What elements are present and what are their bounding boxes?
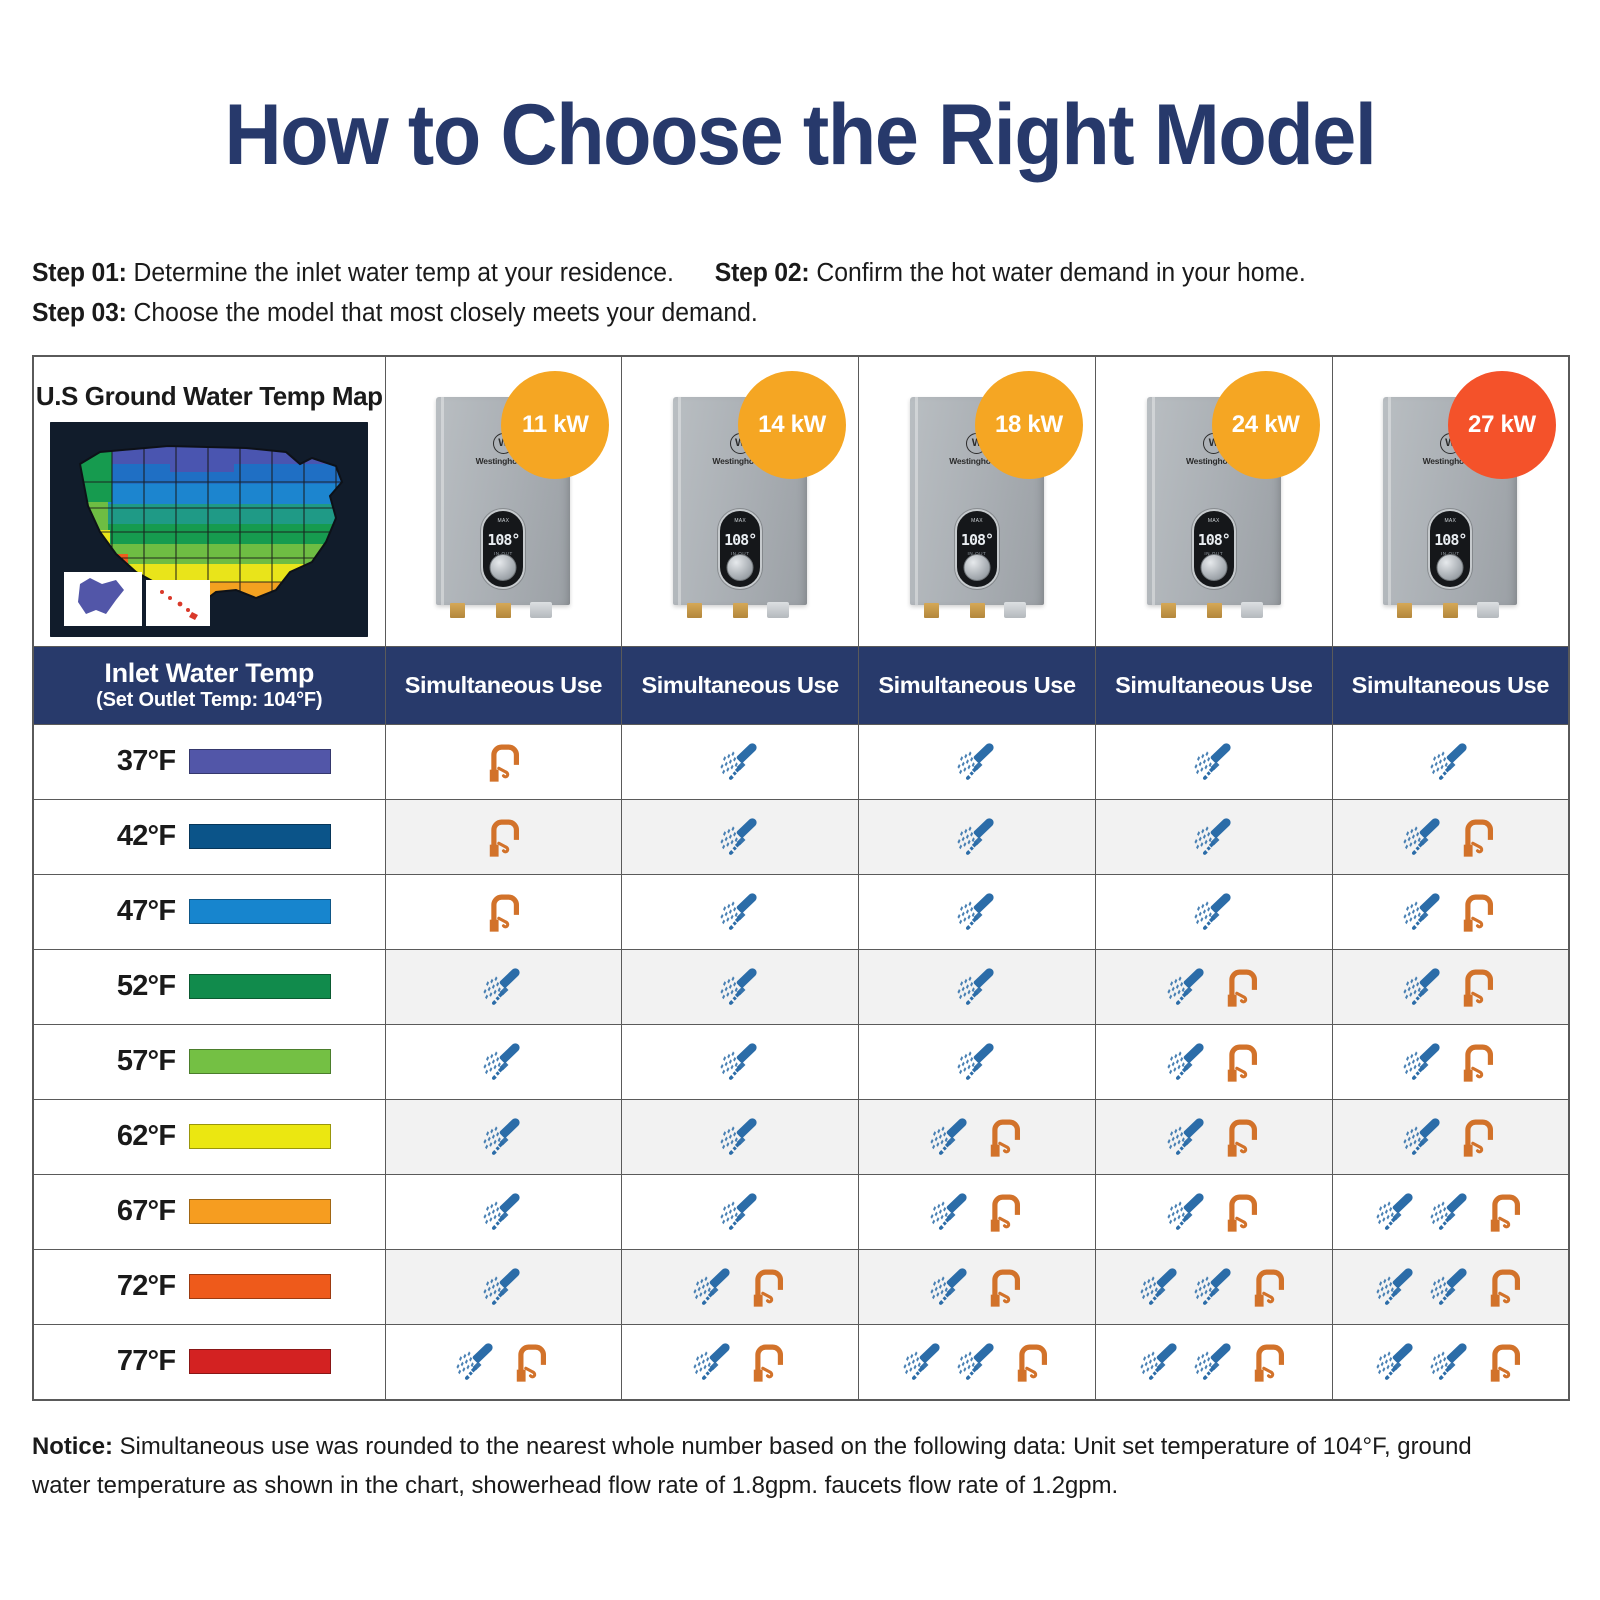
display-top-readout: MAX [483, 518, 523, 524]
showerhead-icon [1400, 963, 1446, 1011]
showerhead-icon [1164, 963, 1210, 1011]
usage-cell-r2-c2 [859, 874, 1096, 949]
showerhead-icon [480, 1188, 526, 1236]
water-ports [1383, 602, 1517, 618]
display-top-readout: MAX [720, 518, 760, 524]
display-temperature: 108° [957, 531, 997, 549]
usage-cell-r7-c1 [622, 1249, 859, 1324]
showerhead-icon [1373, 1263, 1419, 1311]
usage-cell-r3-c1 [622, 949, 859, 1024]
showerhead-icon [1164, 1113, 1210, 1161]
faucet-icon [744, 1263, 790, 1311]
showerhead-icon [1427, 1188, 1473, 1236]
temp-color-swatch [189, 1049, 331, 1074]
faucet-icon [1008, 1338, 1054, 1386]
showerhead-icon [927, 1263, 973, 1311]
showerhead-icon [480, 963, 526, 1011]
faucet-icon [1454, 888, 1500, 936]
step-03-label: Step 03: [32, 299, 127, 327]
step-02-label: Step 02: [715, 259, 810, 287]
temp-value: 47°F [87, 895, 175, 928]
table-row: 42°F [33, 799, 1569, 874]
step-03-text: Choose the model that most closely meets… [134, 299, 758, 327]
cable-gland [1004, 602, 1026, 618]
map-title: U.S Ground Water Temp Map [34, 365, 385, 422]
showerhead-icon [1400, 813, 1446, 861]
table-row: 47°F [33, 874, 1569, 949]
outlet-port [970, 603, 985, 618]
sim-use-header-1: Simultaneous Use [622, 646, 859, 724]
table-row: 37°F [33, 724, 1569, 799]
display-temperature: 108° [1194, 531, 1234, 549]
usage-cell-r5-c4 [1332, 1099, 1569, 1174]
model-selection-table: U.S Ground Water Temp Map [32, 355, 1570, 1401]
control-knob[interactable] [1200, 554, 1227, 581]
showerhead-icon [1191, 1263, 1237, 1311]
sim-use-header-2: Simultaneous Use [859, 646, 1096, 724]
display-temperature: 108° [483, 531, 523, 549]
temp-color-swatch [189, 974, 331, 999]
usage-cell-r6-c3 [1095, 1174, 1332, 1249]
steps-line-1: Step 01: Determine the inlet water temp … [32, 254, 1522, 294]
temp-value: 67°F [87, 1195, 175, 1228]
showerhead-icon [717, 1113, 763, 1161]
usage-cell-r5-c3 [1095, 1099, 1332, 1174]
notice-label: Notice: [32, 1433, 113, 1460]
showerhead-icon [1400, 1038, 1446, 1086]
power-badge-3: 24 kW [1212, 371, 1320, 479]
usage-cell-r2-c3 [1095, 874, 1332, 949]
showerhead-icon [717, 1188, 763, 1236]
showerhead-icon [717, 963, 763, 1011]
showerhead-icon [927, 1113, 973, 1161]
faucet-icon [1218, 1113, 1264, 1161]
showerhead-icon [1400, 888, 1446, 936]
usage-cell-r4-c4 [1332, 1024, 1569, 1099]
usage-cell-r1-c4 [1332, 799, 1569, 874]
temp-value: 57°F [87, 1045, 175, 1078]
usage-cell-r1-c3 [1095, 799, 1332, 874]
usage-cell-r8-c2 [859, 1324, 1096, 1400]
faucet-icon [1218, 1188, 1264, 1236]
temp-color-swatch [189, 824, 331, 849]
showerhead-icon [1191, 1338, 1237, 1386]
temp-value: 72°F [87, 1270, 175, 1303]
usage-cell-r4-c1 [622, 1024, 859, 1099]
usage-cell-r5-c1 [622, 1099, 859, 1174]
power-badge-2: 18 kW [975, 371, 1083, 479]
cable-gland [767, 602, 789, 618]
usage-cell-r5-c2 [859, 1099, 1096, 1174]
showerhead-icon [1427, 1338, 1473, 1386]
usage-cell-r1-c2 [859, 799, 1096, 874]
table-row: 52°F [33, 949, 1569, 1024]
power-badge-0: 11 kW [501, 371, 609, 479]
temp-value: 77°F [87, 1345, 175, 1378]
showerhead-icon [1164, 1188, 1210, 1236]
control-knob[interactable] [963, 554, 990, 581]
set-outlet-temp-note: (Set Outlet Temp: 104°F) [34, 689, 385, 712]
showerhead-icon [1164, 1038, 1210, 1086]
showerhead-icon [717, 888, 763, 936]
showerhead-icon [690, 1338, 736, 1386]
table-header-row: Inlet Water Temp (Set Outlet Temp: 104°F… [33, 646, 1569, 724]
faucet-icon [1218, 1038, 1264, 1086]
usage-cell-r0-c1 [622, 724, 859, 799]
showerhead-icon [453, 1338, 499, 1386]
temp-color-swatch [189, 899, 331, 924]
temp-cell-7: 72°F [33, 1249, 385, 1324]
sim-use-header-0: Simultaneous Use [385, 646, 622, 724]
faucet-icon [1481, 1263, 1527, 1311]
display-temperature: 108° [720, 531, 760, 549]
usage-cell-r3-c2 [859, 949, 1096, 1024]
water-ports [910, 602, 1044, 618]
usage-cell-r0-c0 [385, 724, 622, 799]
control-display: MAX 108° IN OUT [481, 509, 525, 589]
table-row: 57°F [33, 1024, 1569, 1099]
usage-cell-r6-c1 [622, 1174, 859, 1249]
display-temperature: 108° [1430, 531, 1470, 549]
temp-cell-8: 77°F [33, 1324, 385, 1400]
showerhead-icon [480, 1113, 526, 1161]
usage-cell-r1-c0 [385, 799, 622, 874]
unit-cell-4: Westinghouse MAX 108° IN OUT 27 kW [1332, 356, 1569, 646]
usage-cell-r8-c3 [1095, 1324, 1332, 1400]
temp-cell-1: 42°F [33, 799, 385, 874]
unit-cell-1: Westinghouse MAX 108° IN OUT 14 kW [622, 356, 859, 646]
display-top-readout: MAX [1194, 518, 1234, 524]
usage-cell-r0-c2 [859, 724, 1096, 799]
table-row: 72°F [33, 1249, 1569, 1324]
unit-cell-3: Westinghouse MAX 108° IN OUT 24 kW [1095, 356, 1332, 646]
inlet-port [1397, 603, 1412, 618]
cable-gland [530, 602, 552, 618]
faucet-icon [1454, 1038, 1500, 1086]
faucet-icon [981, 1263, 1027, 1311]
usage-cell-r4-c3 [1095, 1024, 1332, 1099]
temp-color-swatch [189, 1274, 331, 1299]
control-knob[interactable] [727, 554, 754, 581]
inlet-water-temp-header: Inlet Water Temp (Set Outlet Temp: 104°F… [33, 646, 385, 724]
temp-cell-2: 47°F [33, 874, 385, 949]
unit-cell-2: Westinghouse MAX 108° IN OUT 18 kW [859, 356, 1096, 646]
showerhead-icon [1373, 1188, 1419, 1236]
outlet-port [496, 603, 511, 618]
usage-cell-r2-c1 [622, 874, 859, 949]
faucet-icon [507, 1338, 553, 1386]
faucet-icon [480, 738, 526, 786]
usage-cell-r7-c3 [1095, 1249, 1332, 1324]
power-badge-4: 27 kW [1448, 371, 1556, 479]
faucet-icon [981, 1113, 1027, 1161]
table-row: 62°F [33, 1099, 1569, 1174]
temp-cell-0: 37°F [33, 724, 385, 799]
showerhead-icon [480, 1263, 526, 1311]
map-cell: U.S Ground Water Temp Map [33, 356, 385, 646]
usage-cell-r8-c0 [385, 1324, 622, 1400]
sim-use-header-4: Simultaneous Use [1332, 646, 1569, 724]
usage-cell-r0-c4 [1332, 724, 1569, 799]
step-01-label: Step 01: [32, 259, 127, 287]
faucet-icon [1454, 813, 1500, 861]
steps-line-2: Step 03: Choose the model that most clos… [32, 294, 1522, 334]
infographic-page: How to Choose the Right Model Step 01: D… [0, 0, 1600, 1600]
usage-cell-r5-c0 [385, 1099, 622, 1174]
us-map-image [50, 422, 368, 637]
step-01-text: Determine the inlet water temp at your r… [134, 259, 674, 287]
notice-text: Simultaneous use was rounded to the near… [32, 1433, 1472, 1500]
faucet-icon [1218, 963, 1264, 1011]
step-02-text: Confirm the hot water demand in your hom… [816, 259, 1305, 287]
cable-gland [1241, 602, 1263, 618]
faucet-icon [1454, 1113, 1500, 1161]
outlet-port [1443, 603, 1458, 618]
usage-cell-r4-c2 [859, 1024, 1096, 1099]
control-display: MAX 108° IN OUT [1192, 509, 1236, 589]
water-ports [673, 602, 807, 618]
map-graphic [50, 422, 368, 637]
control-display: MAX 108° IN OUT [1428, 509, 1472, 589]
inlet-port [924, 603, 939, 618]
inlet-water-temp-title: Inlet Water Temp [34, 658, 385, 688]
notice-block: Notice: Simultaneous use was rounded to … [32, 1427, 1530, 1506]
temp-value: 62°F [87, 1120, 175, 1153]
faucet-icon [744, 1338, 790, 1386]
temp-color-swatch [189, 1349, 331, 1374]
showerhead-icon [954, 813, 1000, 861]
showerhead-icon [954, 963, 1000, 1011]
faucet-icon [1481, 1338, 1527, 1386]
usage-cell-r6-c0 [385, 1174, 622, 1249]
usage-cell-r0-c3 [1095, 724, 1332, 799]
usage-cell-r6-c4 [1332, 1174, 1569, 1249]
sim-use-header-3: Simultaneous Use [1095, 646, 1332, 724]
temp-value: 42°F [87, 820, 175, 853]
faucet-icon [480, 813, 526, 861]
outlet-port [733, 603, 748, 618]
faucet-icon [480, 888, 526, 936]
control-display: MAX 108° IN OUT [955, 509, 999, 589]
showerhead-icon [690, 1263, 736, 1311]
temp-cell-3: 52°F [33, 949, 385, 1024]
usage-cell-r2-c4 [1332, 874, 1569, 949]
showerhead-icon [954, 888, 1000, 936]
temp-value: 52°F [87, 970, 175, 1003]
temp-cell-6: 67°F [33, 1174, 385, 1249]
control-display: MAX 108° IN OUT [718, 509, 762, 589]
outlet-port [1207, 603, 1222, 618]
usage-cell-r3-c3 [1095, 949, 1332, 1024]
showerhead-icon [1400, 1113, 1446, 1161]
usage-cell-r8-c1 [622, 1324, 859, 1400]
usage-cell-r4-c0 [385, 1024, 622, 1099]
showerhead-icon [1427, 1263, 1473, 1311]
water-ports [436, 602, 570, 618]
usage-cell-r7-c2 [859, 1249, 1096, 1324]
showerhead-icon [900, 1338, 946, 1386]
showerhead-icon [1137, 1263, 1183, 1311]
showerhead-icon [954, 738, 1000, 786]
temp-value: 37°F [87, 745, 175, 778]
faucet-icon [1454, 963, 1500, 1011]
showerhead-icon [1191, 738, 1237, 786]
power-badge-1: 14 kW [738, 371, 846, 479]
faucet-icon [981, 1188, 1027, 1236]
temp-color-swatch [189, 1199, 331, 1224]
usage-cell-r2-c0 [385, 874, 622, 949]
usage-cell-r8-c4 [1332, 1324, 1569, 1400]
inlet-port [687, 603, 702, 618]
usage-cell-r1-c1 [622, 799, 859, 874]
control-knob[interactable] [490, 554, 517, 581]
table-row: 67°F [33, 1174, 1569, 1249]
inlet-port [1161, 603, 1176, 618]
usage-cell-r3-c4 [1332, 949, 1569, 1024]
showerhead-icon [717, 738, 763, 786]
water-ports [1147, 602, 1281, 618]
usage-cell-r7-c4 [1332, 1249, 1569, 1324]
showerhead-icon [954, 1338, 1000, 1386]
temp-cell-5: 62°F [33, 1099, 385, 1174]
faucet-icon [1245, 1338, 1291, 1386]
showerhead-icon [480, 1038, 526, 1086]
temp-color-swatch [189, 749, 331, 774]
product-row: U.S Ground Water Temp Map [33, 356, 1569, 646]
showerhead-icon [927, 1188, 973, 1236]
showerhead-icon [1427, 738, 1473, 786]
showerhead-icon [1191, 888, 1237, 936]
table-row: 77°F [33, 1324, 1569, 1400]
usage-cell-r7-c0 [385, 1249, 622, 1324]
showerhead-icon [717, 1038, 763, 1086]
showerhead-icon [1191, 813, 1237, 861]
unit-cell-0: Westinghouse MAX 108° IN OUT 11 kW [385, 356, 622, 646]
showerhead-icon [717, 813, 763, 861]
showerhead-icon [1137, 1338, 1183, 1386]
page-title: How to Choose the Right Model [93, 0, 1506, 178]
showerhead-icon [954, 1038, 1000, 1086]
cable-gland [1477, 602, 1499, 618]
faucet-icon [1245, 1263, 1291, 1311]
control-knob[interactable] [1437, 554, 1464, 581]
usage-cell-r3-c0 [385, 949, 622, 1024]
temp-cell-4: 57°F [33, 1024, 385, 1099]
steps-block: Step 01: Determine the inlet water temp … [32, 254, 1522, 333]
display-top-readout: MAX [957, 518, 997, 524]
temp-color-swatch [189, 1124, 331, 1149]
display-top-readout: MAX [1430, 518, 1470, 524]
usage-cell-r6-c2 [859, 1174, 1096, 1249]
inlet-port [450, 603, 465, 618]
showerhead-icon [1373, 1338, 1419, 1386]
faucet-icon [1481, 1188, 1527, 1236]
